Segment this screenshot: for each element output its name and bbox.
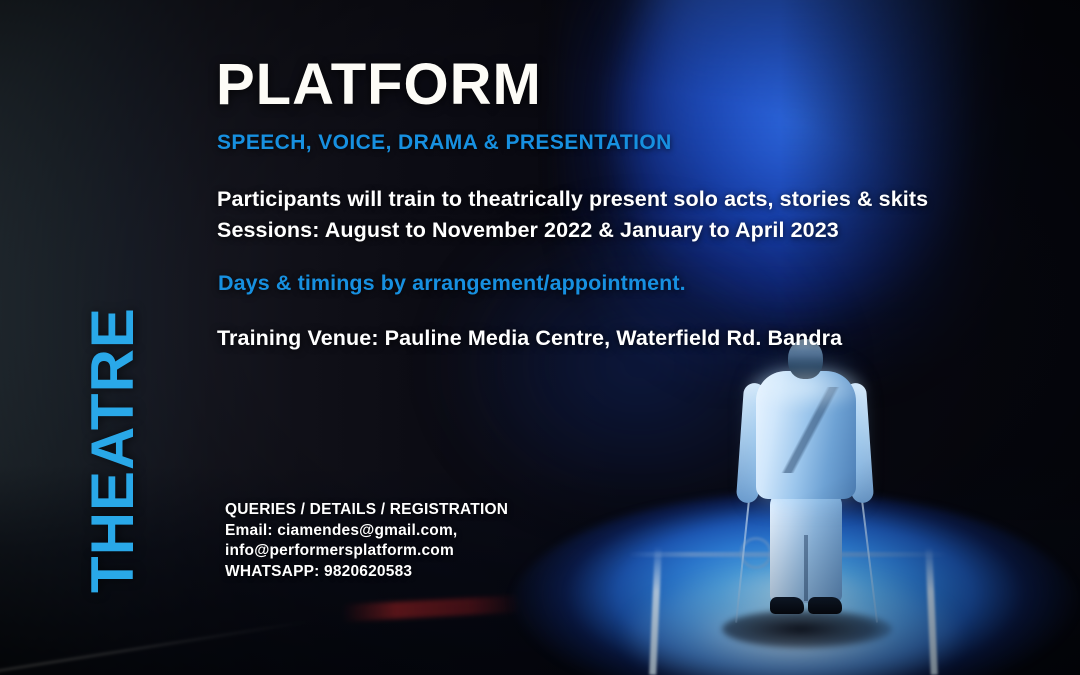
page-subtitle: SPEECH, VOICE, DRAMA & PRESENTATION — [217, 132, 672, 153]
theatre-workshop-poster: PLATFORM SPEECH, VOICE, DRAMA & PRESENTA… — [0, 0, 1080, 675]
description-line-1: Participants will train to theatrically … — [217, 184, 928, 215]
page-title: PLATFORM — [216, 56, 542, 114]
description-line-2: Sessions: August to November 2022 & Janu… — [217, 215, 928, 246]
contact-email-primary[interactable]: Email: ciamendes@gmail.com, — [225, 521, 508, 542]
poster-text-layer: PLATFORM SPEECH, VOICE, DRAMA & PRESENTA… — [0, 0, 1080, 675]
contact-whatsapp[interactable]: WHATSAPP: 9820620583 — [225, 562, 508, 583]
contact-email-secondary[interactable]: info@performersplatform.com — [225, 541, 508, 562]
program-description: Participants will train to theatrically … — [217, 184, 928, 246]
availability-note: Days & timings by arrangement/appointmen… — [218, 273, 686, 295]
vertical-category-label: THEATRE — [83, 285, 143, 615]
contact-heading: QUERIES / DETAILS / REGISTRATION — [225, 500, 508, 521]
contact-block: QUERIES / DETAILS / REGISTRATION Email: … — [225, 500, 508, 582]
venue-info: Training Venue: Pauline Media Centre, Wa… — [217, 328, 842, 350]
